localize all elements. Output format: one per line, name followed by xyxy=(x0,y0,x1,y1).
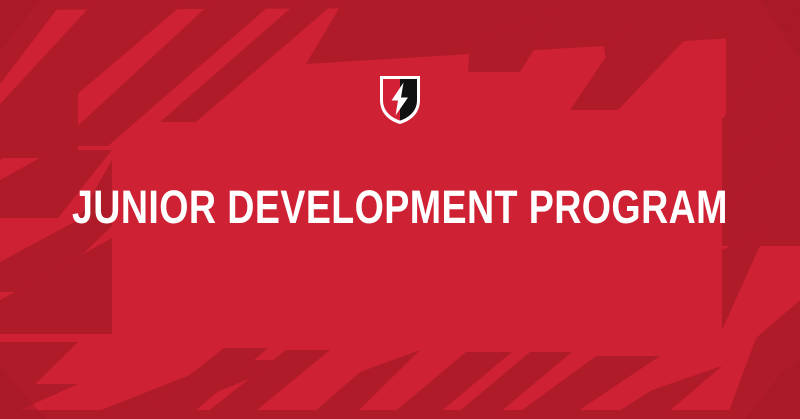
shield-lightning-icon xyxy=(378,74,422,126)
banner-content: JUNIOR DEVELOPMENT PROGRAM xyxy=(0,0,800,419)
shield-lightning-logo xyxy=(378,74,422,126)
page-title: JUNIOR DEVELOPMENT PROGRAM xyxy=(72,183,728,230)
junior-development-program-banner: JUNIOR DEVELOPMENT PROGRAM xyxy=(0,0,800,419)
